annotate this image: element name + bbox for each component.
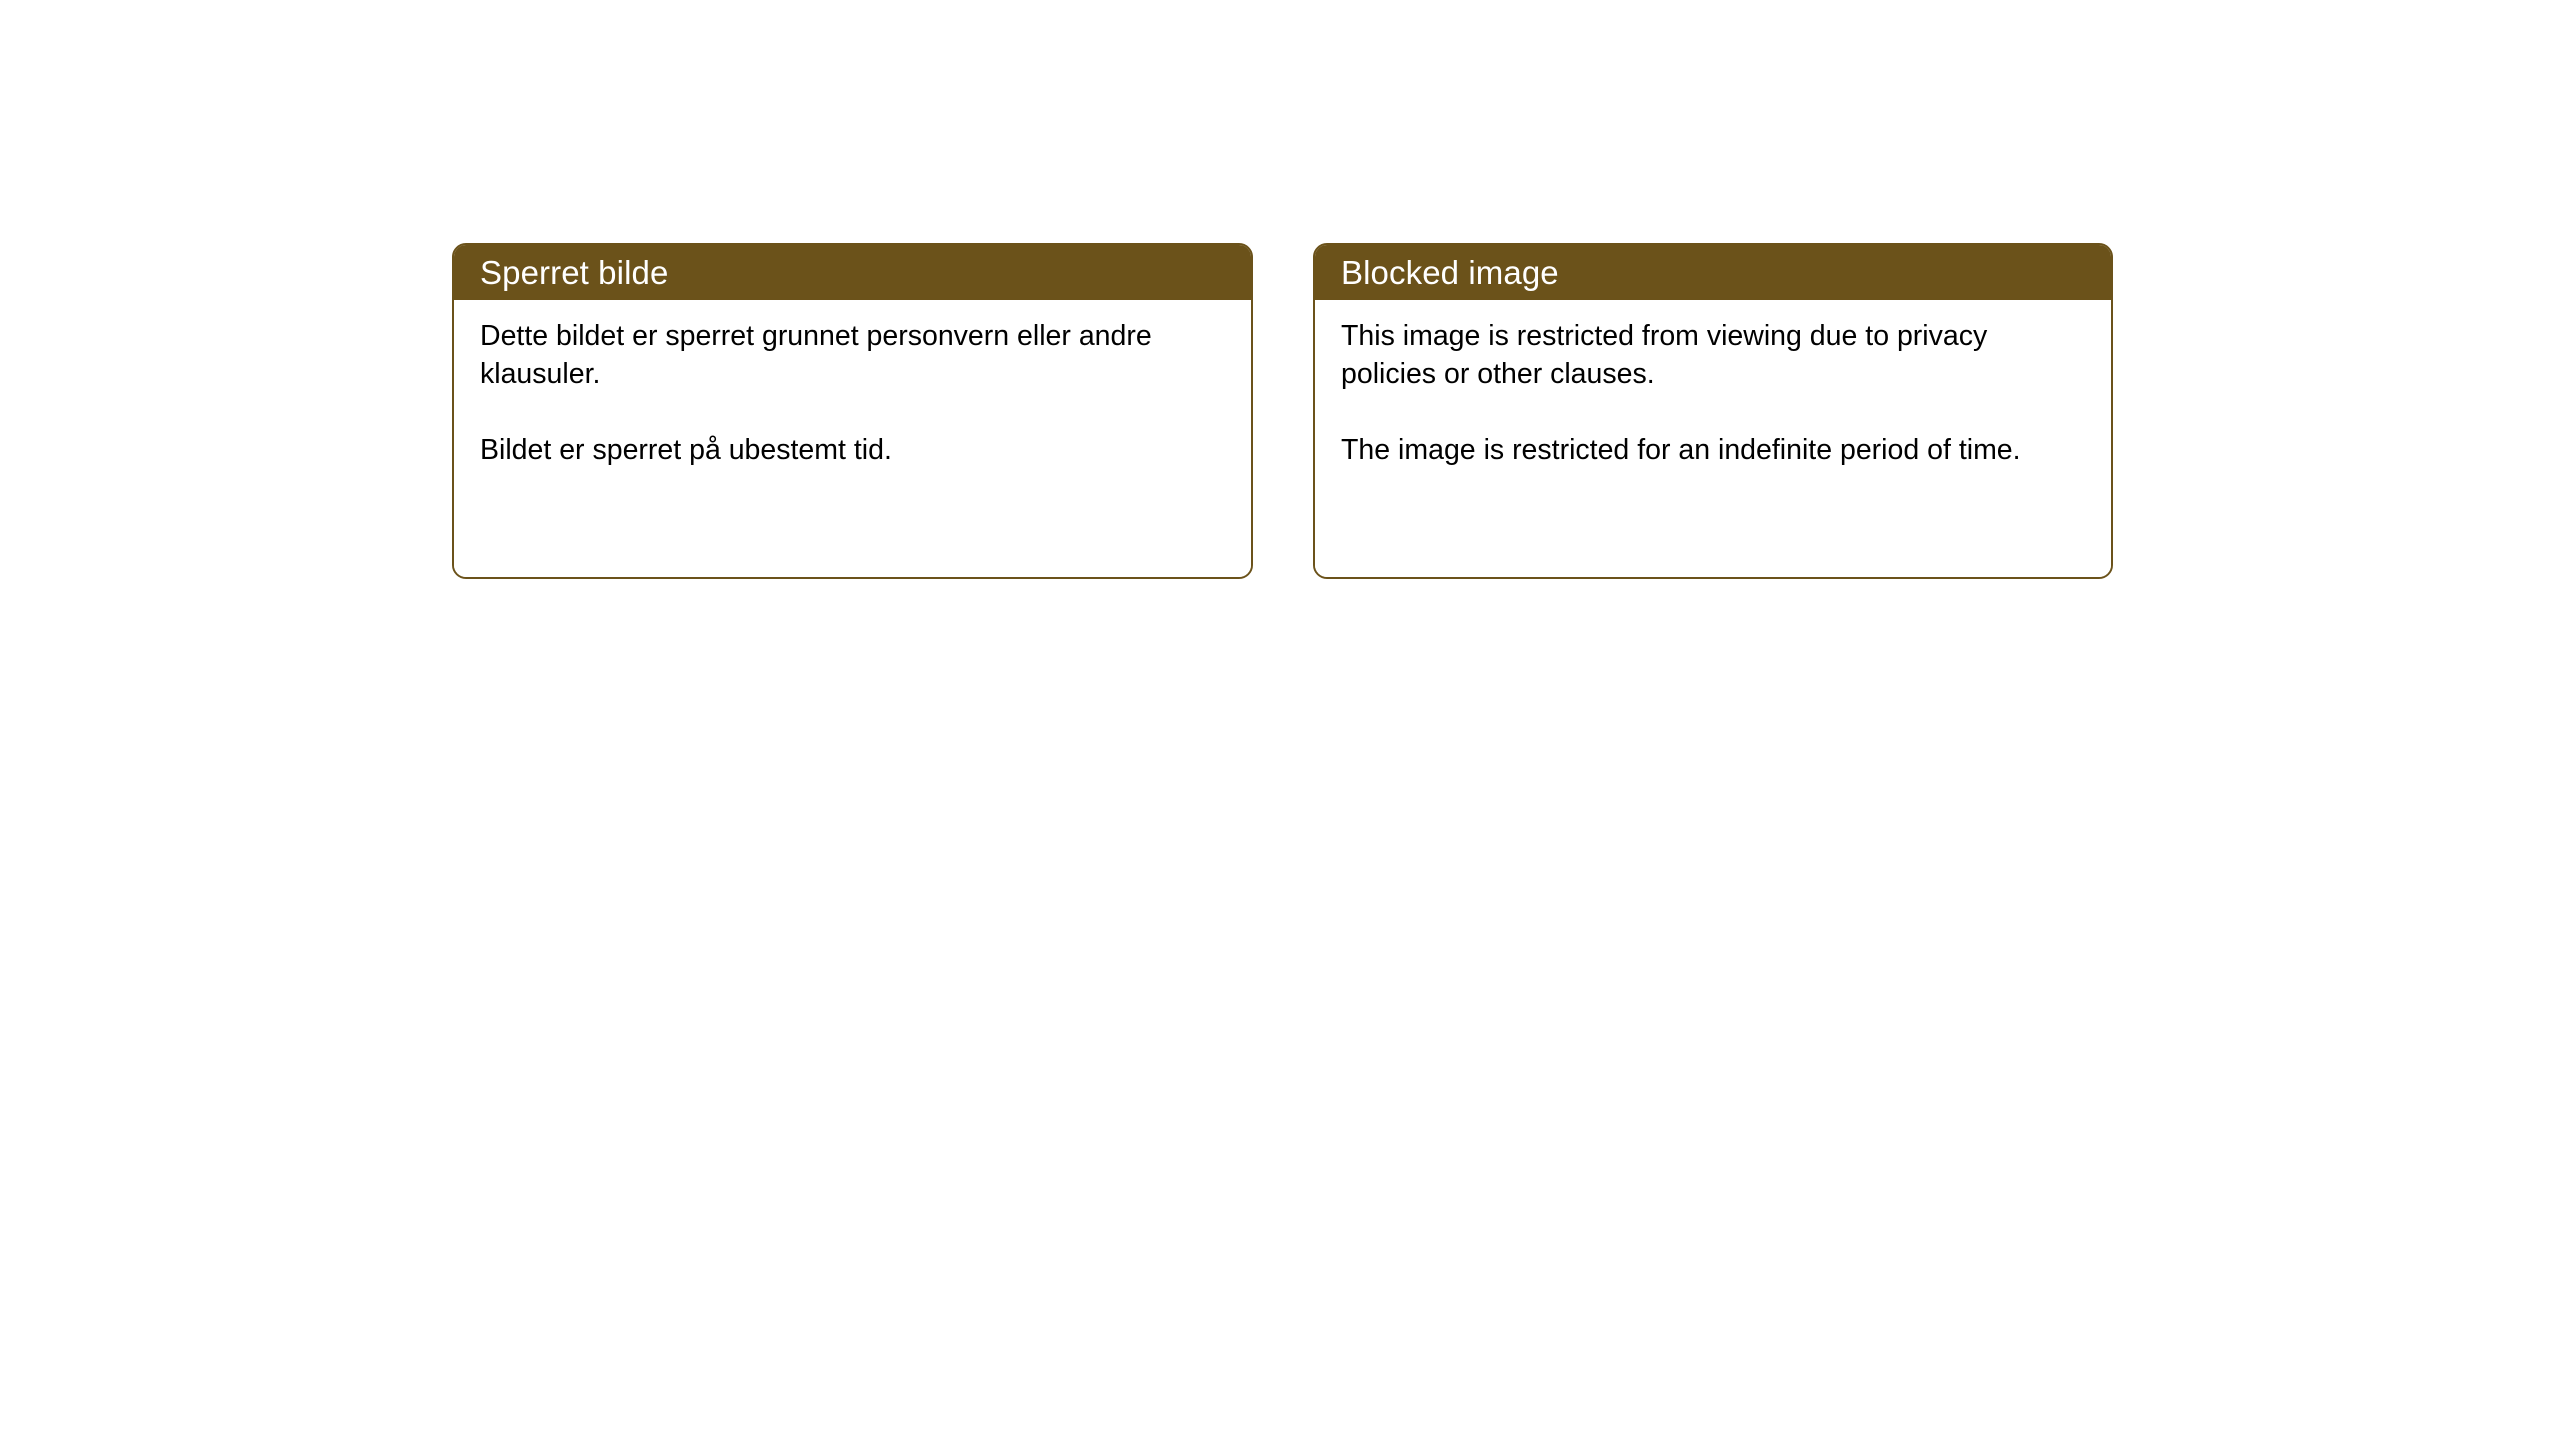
card-body-english: This image is restricted from viewing du… [1315, 300, 2111, 577]
card-body-norwegian: Dette bildet er sperret grunnet personve… [454, 300, 1251, 577]
blocked-image-card-norwegian: Sperret bilde Dette bildet er sperret gr… [452, 243, 1253, 579]
card-title-norwegian: Sperret bilde [480, 256, 668, 289]
card-paragraph-english-2: The image is restricted for an indefinit… [1341, 432, 2087, 470]
card-paragraph-english-1: This image is restricted from viewing du… [1341, 318, 2087, 394]
card-header-english: Blocked image [1315, 245, 2111, 300]
blocked-image-notice-group: Sperret bilde Dette bildet er sperret gr… [452, 243, 2113, 579]
card-paragraph-norwegian-2: Bildet er sperret på ubestemt tid. [480, 432, 1227, 470]
card-paragraph-norwegian-1: Dette bildet er sperret grunnet personve… [480, 318, 1227, 394]
card-title-english: Blocked image [1341, 256, 1559, 289]
blocked-image-card-english: Blocked image This image is restricted f… [1313, 243, 2113, 579]
page-root: Sperret bilde Dette bildet er sperret gr… [0, 0, 2560, 1440]
card-header-norwegian: Sperret bilde [454, 245, 1251, 300]
